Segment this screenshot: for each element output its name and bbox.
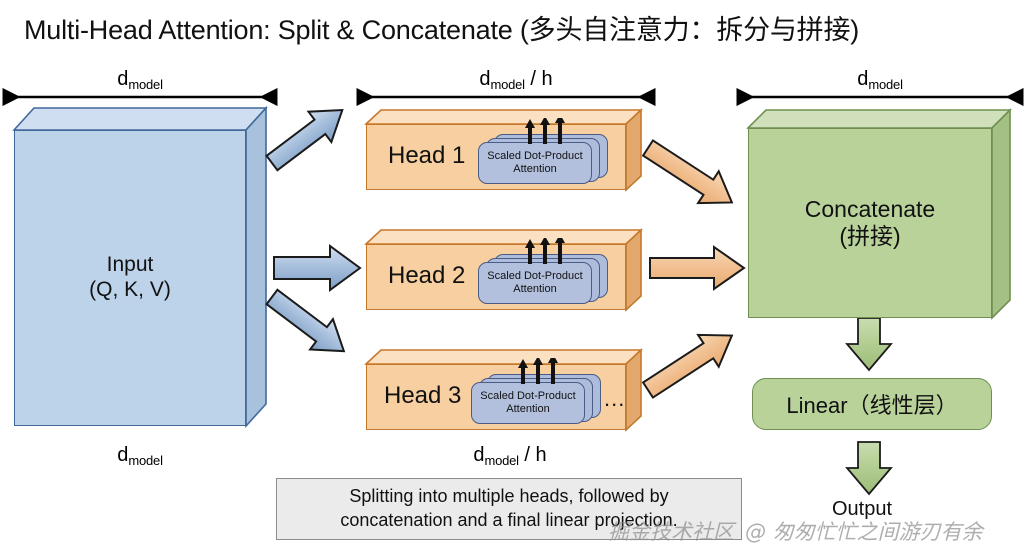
card-line1: Scaled Dot-Product bbox=[480, 390, 575, 403]
dim-base: d bbox=[473, 444, 484, 466]
page-title: Multi-Head Attention: Split & Concatenat… bbox=[24, 8, 1004, 47]
card-front-label: Scaled Dot-Product Attention bbox=[483, 150, 586, 177]
card-up-arrows-icon bbox=[517, 358, 563, 384]
concatenate-box-line2: (拼接) bbox=[839, 223, 900, 250]
linear-box[interactable]: Linear（线性层） bbox=[752, 378, 992, 430]
dim-sub: model bbox=[484, 453, 518, 468]
arrow-linear-to-output bbox=[847, 442, 891, 494]
input-box-line2: (Q, K, V) bbox=[89, 278, 171, 303]
scaled-dot-product-card-stack-1[interactable]: Scaled Dot-Product Attention bbox=[478, 134, 608, 184]
arrow-head3-to-concat bbox=[638, 320, 743, 406]
card-line2: Attention bbox=[480, 403, 575, 416]
scaled-dot-product-card-stack-3[interactable]: Scaled Dot-Product Attention bbox=[471, 374, 601, 424]
card-front: Scaled Dot-Product Attention bbox=[478, 142, 592, 184]
dim-suffix: / h bbox=[525, 68, 553, 90]
caption-line1: Splitting into multiple heads, followed … bbox=[340, 485, 677, 509]
dim-base: d bbox=[479, 68, 490, 90]
concatenate-box-line1: Concatenate bbox=[805, 196, 935, 223]
head-box-1-label: Head 1 bbox=[388, 142, 465, 170]
input-box[interactable]: Input (Q, K, V) bbox=[14, 108, 266, 426]
card-line1: Scaled Dot-Product bbox=[487, 150, 582, 163]
dim-sub: model bbox=[128, 453, 162, 468]
card-line2: Attention bbox=[487, 163, 582, 176]
dim-sub: model bbox=[128, 77, 162, 92]
dim-base: d bbox=[117, 68, 128, 90]
diagram-canvas: Multi-Head Attention: Split & Concatenat… bbox=[0, 0, 1024, 559]
watermark-author: @ 匆匆忙忙之间游刃有余 bbox=[745, 516, 983, 546]
dim-label-heads-bottom: dmodel / h bbox=[450, 444, 570, 467]
input-box-line1: Input bbox=[107, 253, 154, 278]
arrow-concat-to-linear bbox=[847, 318, 891, 370]
card-up-arrows-icon bbox=[524, 238, 570, 264]
dim-label-heads-top: dmodel / h bbox=[456, 68, 576, 91]
watermark-site: 掘金技术社区 bbox=[608, 516, 734, 546]
dim-sub: model bbox=[490, 77, 524, 92]
concatenate-box-front-face: Concatenate (拼接) bbox=[748, 128, 992, 318]
input-box-front-face: Input (Q, K, V) bbox=[14, 130, 246, 426]
dim-label-input-top: dmodel bbox=[90, 68, 190, 91]
card-line1: Scaled Dot-Product bbox=[487, 270, 582, 283]
card-front: Scaled Dot-Product Attention bbox=[478, 262, 592, 304]
card-up-arrows-icon bbox=[524, 118, 570, 144]
head-box-3[interactable]: Head 3 Scaled Dot-Product Attention ... bbox=[366, 350, 641, 430]
dim-label-input-bottom: dmodel bbox=[90, 444, 190, 467]
dim-label-concat-top: dmodel bbox=[830, 68, 930, 91]
arrow-input-to-head2 bbox=[274, 246, 360, 290]
arrow-input-to-head3 bbox=[261, 282, 356, 367]
head-box-3-ellipsis: ... bbox=[604, 386, 625, 412]
head-box-1[interactable]: Head 1 Scaled Dot-Product Attention bbox=[366, 110, 641, 190]
linear-box-label: Linear（线性层） bbox=[786, 388, 957, 420]
card-front-label: Scaled Dot-Product Attention bbox=[483, 270, 586, 297]
card-line2: Attention bbox=[487, 283, 582, 296]
dim-suffix: / h bbox=[519, 444, 547, 466]
scaled-dot-product-card-stack-2[interactable]: Scaled Dot-Product Attention bbox=[478, 254, 608, 304]
head-box-2[interactable]: Head 2 Scaled Dot-Product Attention bbox=[366, 230, 641, 310]
head-box-3-label: Head 3 bbox=[384, 382, 461, 410]
dim-base: d bbox=[857, 68, 868, 90]
head-box-2-label: Head 2 bbox=[388, 262, 465, 290]
arrow-head2-to-concat bbox=[650, 247, 744, 289]
card-front: Scaled Dot-Product Attention bbox=[471, 382, 585, 424]
arrow-head1-to-concat bbox=[638, 132, 743, 218]
arrow-input-to-head1 bbox=[261, 95, 354, 178]
dim-sub: model bbox=[868, 77, 902, 92]
dim-base: d bbox=[117, 444, 128, 466]
concatenate-box[interactable]: Concatenate (拼接) bbox=[748, 110, 1010, 318]
card-front-label: Scaled Dot-Product Attention bbox=[476, 390, 579, 417]
